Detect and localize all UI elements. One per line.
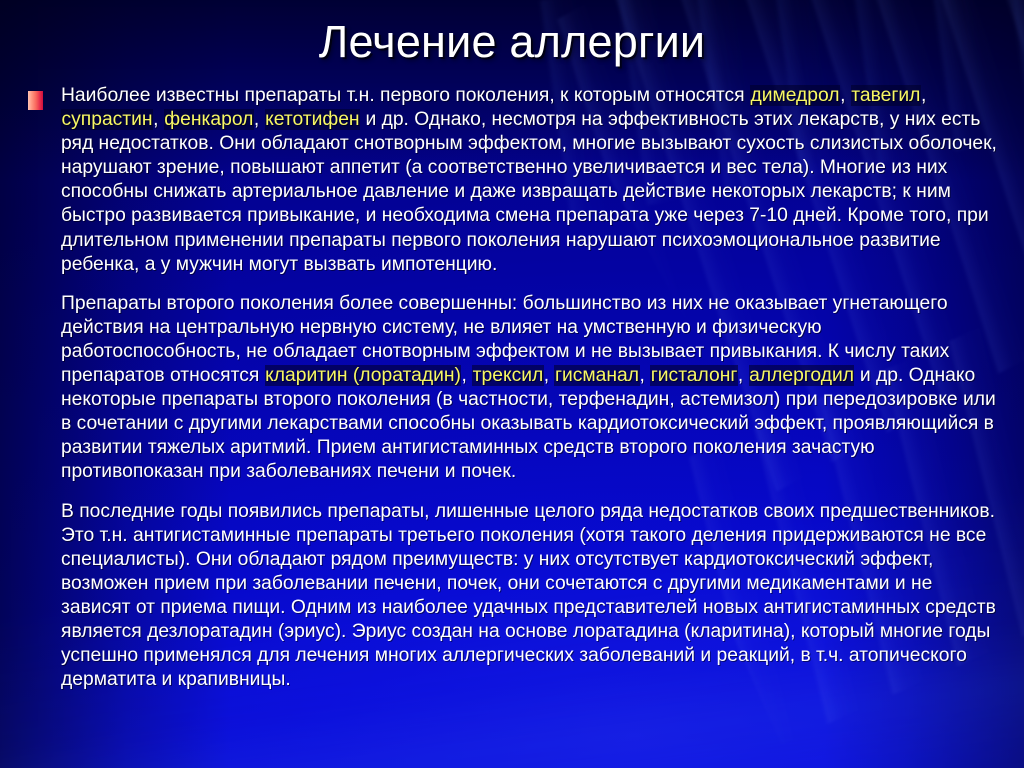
text-run: ,: [544, 365, 555, 386]
drug-name-highlight: гисталонг: [650, 365, 738, 386]
drug-name-highlight: кларитин (лоратадин): [265, 365, 462, 386]
text-run: ,: [153, 109, 164, 130]
title-area: Лечение аллергии: [0, 6, 1024, 78]
drug-name-highlight: трексил: [472, 365, 544, 386]
text-run: В последние годы появились препараты, ли…: [61, 501, 1001, 691]
slide-title: Лечение аллергии: [319, 16, 706, 68]
text-run: ,: [738, 365, 749, 386]
text-run: ,: [921, 85, 932, 106]
drug-name-highlight: димедрол: [750, 85, 840, 106]
text-run: ,: [840, 85, 851, 106]
drug-name-highlight: аллергодил: [749, 365, 855, 386]
drug-name-highlight: кетотифен: [265, 109, 361, 130]
text-run: ,: [640, 365, 651, 386]
paragraph-third-generation: В последние годы появились препараты, ли…: [28, 500, 1006, 693]
paragraph-text: Наиболее известны препараты т.н. первого…: [61, 84, 1006, 277]
paragraph-text: В последние годы появились препараты, ли…: [61, 500, 1006, 693]
text-run: ,: [461, 365, 472, 386]
paragraph-second-generation: Препараты второго поколения более соверш…: [28, 292, 1006, 485]
paragraph-text: Препараты второго поколения более соверш…: [61, 292, 1006, 485]
drug-name-highlight: тавегил: [851, 85, 921, 106]
paragraph-first-generation: Наиболее известны препараты т.н. первого…: [28, 84, 1006, 277]
text-run: и др. Однако, несмотря на эффективность …: [61, 109, 1002, 275]
drug-name-highlight: гисманал: [554, 365, 639, 386]
text-run: Наиболее известны препараты т.н. первого…: [61, 85, 750, 106]
red-square-bullet-icon: [28, 91, 43, 110]
presentation-slide: Лечение аллергии Наиболее известны препа…: [0, 0, 1024, 768]
bullet-cell: [28, 84, 61, 110]
text-run: ,: [254, 109, 265, 130]
drug-name-highlight: фенкарол: [164, 109, 254, 130]
drug-name-highlight: супрастин: [61, 109, 153, 130]
slide-body: Наиболее известны препараты т.н. первого…: [28, 84, 1006, 756]
